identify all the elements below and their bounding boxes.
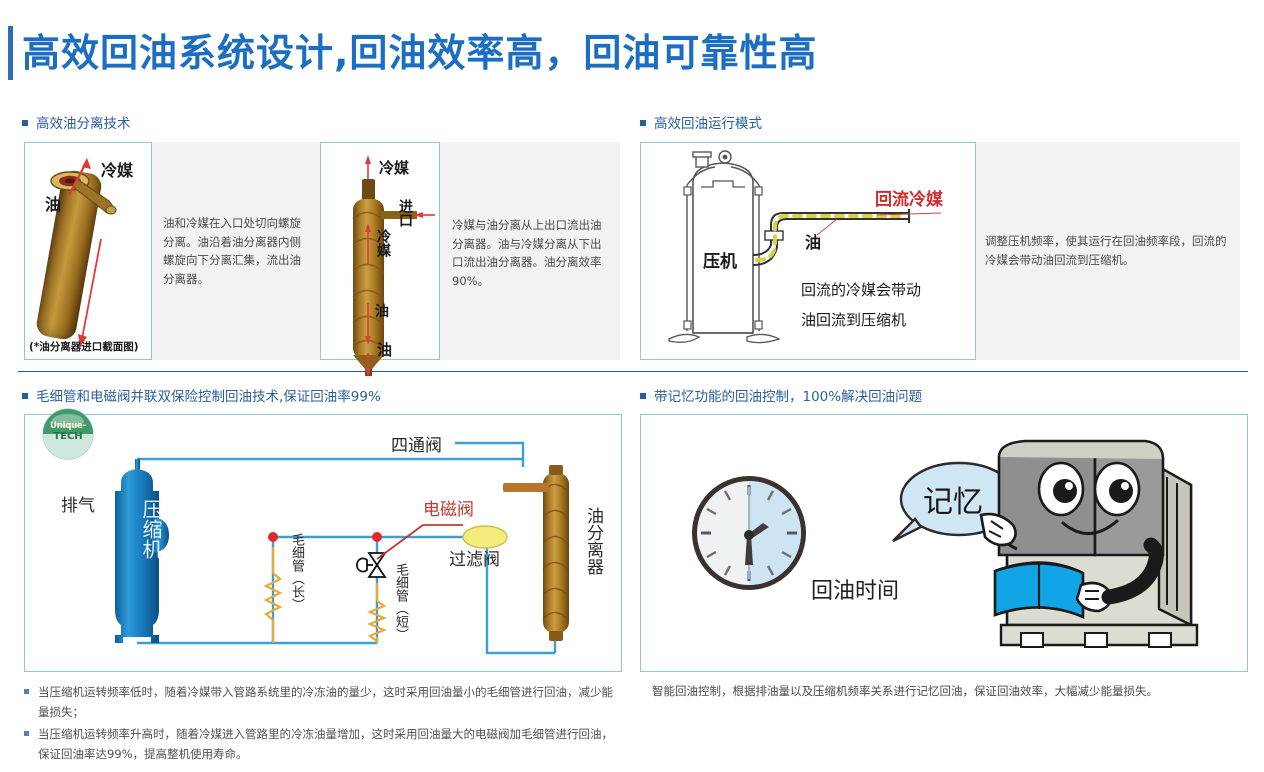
label-compressor: 压机 bbox=[703, 247, 737, 272]
refrigerant-arrow-icon bbox=[61, 155, 101, 197]
unique-tech-badge: Unique- TECH bbox=[39, 407, 97, 461]
horizontal-divider bbox=[18, 371, 1248, 372]
page-title: 高效回油系统设计,回油效率高，回油可靠性高 bbox=[22, 22, 817, 77]
label-four-way-valve: 四通阀 bbox=[391, 431, 442, 456]
bullet-square-icon bbox=[640, 393, 646, 399]
label-refrigerant: 冷媒 bbox=[101, 157, 133, 181]
list-item: 当压缩机运转频率低时，随着冷媒带入管路系统里的冷冻油的量少，这时采用回油量小的毛… bbox=[24, 682, 624, 722]
bullet-square-icon bbox=[22, 393, 28, 399]
label-oil-bottom: 油 bbox=[377, 339, 392, 360]
separator-bottom-cap bbox=[549, 631, 563, 641]
note-line-2: 油回流到压缩机 bbox=[801, 309, 906, 330]
label-capillary-long: 毛细管（长） bbox=[287, 533, 306, 611]
bullet-list: 当压缩机运转频率低时，随着冷媒带入管路系统里的冷冻油的量少，这时采用回油量小的毛… bbox=[24, 682, 624, 767]
label-return-refrigerant: 回流冷媒 bbox=[875, 185, 943, 210]
section-heading-2: 高效回油运行模式 bbox=[640, 112, 762, 132]
clock-icon bbox=[689, 473, 809, 593]
section-heading-4-label: 带记忆功能的回油控制，100%解决回油问题 bbox=[654, 389, 922, 405]
panel-circuit-schematic: Unique- TECH 排气 压缩机 bbox=[24, 414, 622, 672]
label-refrigerant-mid: 冷媒 bbox=[373, 229, 393, 257]
section-heading-3: 毛细管和电磁阀并联双保险控制回油技术,保证回油率99% bbox=[22, 385, 381, 405]
label-refrigerant-top: 冷媒 bbox=[379, 157, 409, 178]
badge-top-label: Unique- bbox=[39, 421, 97, 431]
label-memory: 记忆 bbox=[923, 477, 983, 521]
note-line-1: 回流的冷媒会带动 bbox=[801, 279, 921, 300]
label-oil-return-time: 回油时间 bbox=[811, 573, 899, 605]
section-heading-3-label: 毛细管和电磁阀并联双保险控制回油技术,保证回油率99% bbox=[36, 389, 381, 405]
label-filter-valve: 过滤阀 bbox=[449, 545, 500, 570]
title-bar: 高效回油系统设计,回油效率高，回油可靠性高 bbox=[0, 22, 1264, 84]
section-heading-2-label: 高效回油运行模式 bbox=[654, 116, 762, 132]
panel-vertical-separator: 冷媒 进口 冷媒 油 油 bbox=[320, 142, 440, 360]
separator-top-cap bbox=[549, 465, 563, 475]
panel-1-description: 油和冷媒在入口处切向螺旋分离。油沿着油分离器内侧螺旋向下分离汇集，流出油分离器。 bbox=[163, 214, 309, 289]
panel-3-description: 调整压机频率，使其运行在回油频率段，回流的冷媒会带动油回流到压缩机。 bbox=[985, 232, 1237, 269]
caption-cross-section: (*油分离器进口截面图) bbox=[29, 339, 139, 354]
label-solenoid-valve: 电磁阀 bbox=[423, 495, 474, 520]
title-accent-bar bbox=[8, 26, 13, 80]
label-oil-in-pipe: 油 bbox=[805, 229, 821, 253]
label-discharge: 排气 bbox=[61, 491, 95, 516]
label-oil-mid: 油 bbox=[375, 301, 389, 321]
bullet-square-icon bbox=[22, 120, 28, 126]
bullet-square-icon bbox=[640, 120, 646, 126]
panel-2-description: 冷媒与油分离从上出口流出油分离器。油与冷媒分离从下出口流出油分离器。油分离效率9… bbox=[452, 216, 608, 291]
oil-flow-arrow-icon bbox=[73, 235, 113, 353]
label-inlet: 进口 bbox=[395, 199, 415, 227]
label-capillary-short: 毛细管（短） bbox=[391, 563, 410, 641]
list-item: 当压缩机运转频率升高时，随着冷媒进入管路里的冷冻油量增加，这时采用回油量大的电磁… bbox=[24, 724, 624, 764]
label-oil: 油 bbox=[45, 191, 61, 215]
label-oil-separator: 油分离器 bbox=[581, 507, 606, 575]
mascot-ac-unit-icon bbox=[977, 433, 1233, 659]
section-heading-1-label: 高效油分离技术 bbox=[36, 116, 131, 132]
slide-root: 高效回油系统设计,回油效率高，回油可靠性高 高效油分离技术 高效回油运行模式 毛… bbox=[0, 0, 1264, 772]
bottom-caption: 智能回油控制，根据排油量以及压缩机频率关系进行记忆回油，保证回油效率，大幅减少能… bbox=[652, 682, 1248, 701]
label-compressor: 压缩机 bbox=[137, 499, 166, 559]
section-heading-1: 高效油分离技术 bbox=[22, 112, 131, 132]
section-heading-4: 带记忆功能的回油控制，100%解决回油问题 bbox=[640, 385, 922, 405]
panel-oil-separator-photo: 冷媒 油 (*油分离器进口截面图) bbox=[24, 142, 152, 360]
panel-memory-control: 回油时间 记忆 bbox=[640, 414, 1248, 672]
badge-bottom-label: TECH bbox=[39, 431, 97, 442]
panel-compressor-return: 压机 回流冷媒 油 回流的冷媒会带动 油回流到压缩机 bbox=[640, 142, 976, 360]
separator-helix-graphic bbox=[543, 473, 569, 633]
separator-inlet-pipe bbox=[503, 483, 549, 492]
